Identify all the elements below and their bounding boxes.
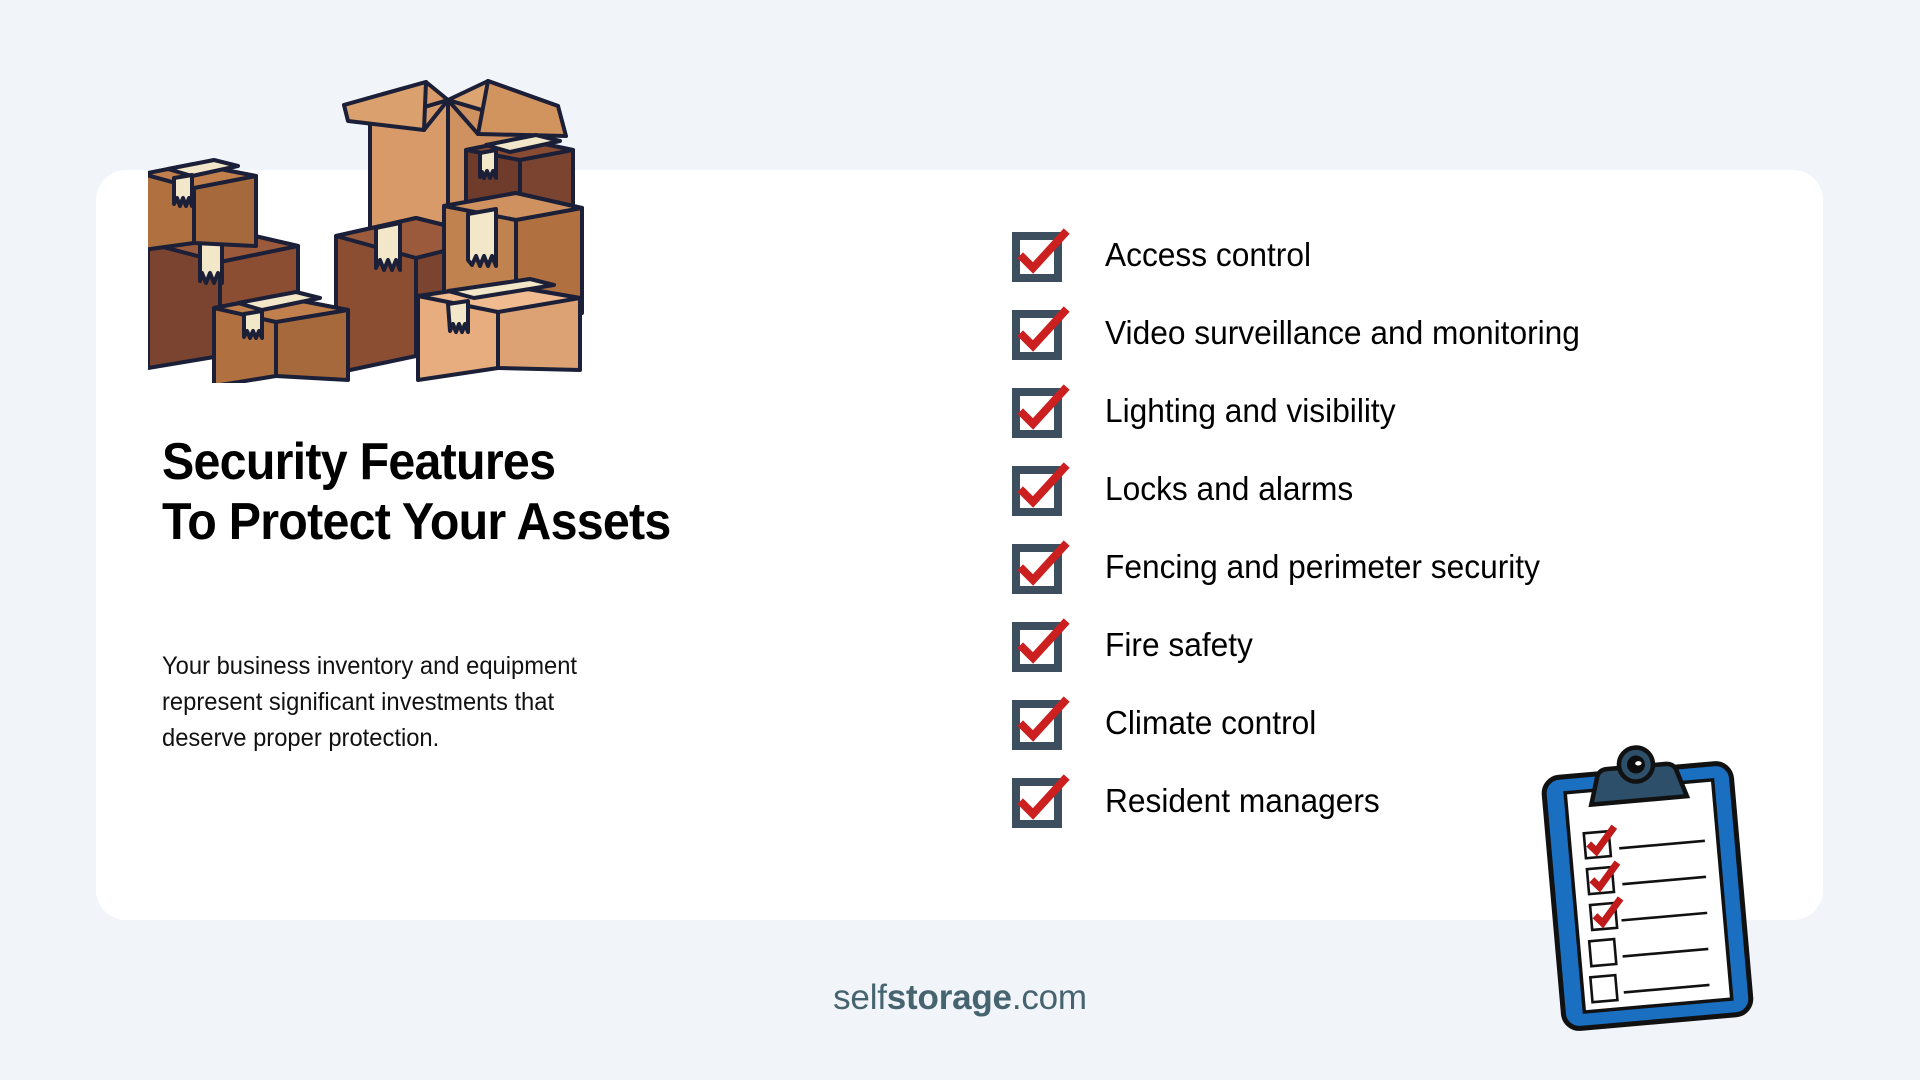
checklist-item-label: Access control <box>1105 232 1311 278</box>
checklist-item[interactable]: Video surveillance and monitoring <box>1012 310 1772 388</box>
selfstorage-logo[interactable]: selfstorage.com <box>0 978 1920 1018</box>
checklist-item[interactable]: Fire safety <box>1012 622 1772 700</box>
checklist-item[interactable]: Locks and alarms <box>1012 466 1772 544</box>
checkbox-checked-icon[interactable] <box>1012 232 1062 282</box>
body-line-3: deserve proper protection. <box>162 720 675 756</box>
checkbox-checked-icon[interactable] <box>1012 544 1062 594</box>
checkbox-checked-icon[interactable] <box>1012 466 1062 516</box>
cardboard-boxes-illustration <box>148 38 728 383</box>
title-line-1: Security Features <box>162 432 869 492</box>
body-line-2: represent significant investments that <box>162 684 675 720</box>
checklist-item-label: Climate control <box>1105 700 1316 746</box>
title-line-2: To Protect Your Assets <box>162 492 869 552</box>
checkbox-checked-icon[interactable] <box>1012 388 1062 438</box>
page-title: Security Features To Protect Your Assets <box>162 432 869 553</box>
boxes-svg <box>148 38 728 383</box>
checkbox-checked-icon[interactable] <box>1012 310 1062 360</box>
checklist-item-label: Fire safety <box>1105 622 1253 668</box>
checklist-item-label: Fencing and perimeter security <box>1105 544 1540 590</box>
body-paragraph: Your business inventory and equipment re… <box>162 648 675 756</box>
checklist-item[interactable]: Fencing and perimeter security <box>1012 544 1772 622</box>
checklist-item-label: Locks and alarms <box>1105 466 1353 512</box>
logo-part-storage: storage <box>887 978 1012 1017</box>
logo-part-self: self <box>833 978 887 1017</box>
checkbox-checked-icon[interactable] <box>1012 778 1062 828</box>
body-line-1: Your business inventory and equipment <box>162 648 675 684</box>
checklist-item-label: Resident managers <box>1105 778 1380 824</box>
checkbox-checked-icon[interactable] <box>1012 622 1062 672</box>
checklist-item[interactable]: Lighting and visibility <box>1012 388 1772 466</box>
logo-part-tld: .com <box>1012 978 1087 1017</box>
infographic-root: Security Features To Protect Your Assets… <box>0 0 1920 1080</box>
checklist-item[interactable]: Access control <box>1012 232 1772 310</box>
checkbox-checked-icon[interactable] <box>1012 700 1062 750</box>
checklist-item-label: Video surveillance and monitoring <box>1105 310 1580 356</box>
checklist-item-label: Lighting and visibility <box>1105 388 1396 434</box>
